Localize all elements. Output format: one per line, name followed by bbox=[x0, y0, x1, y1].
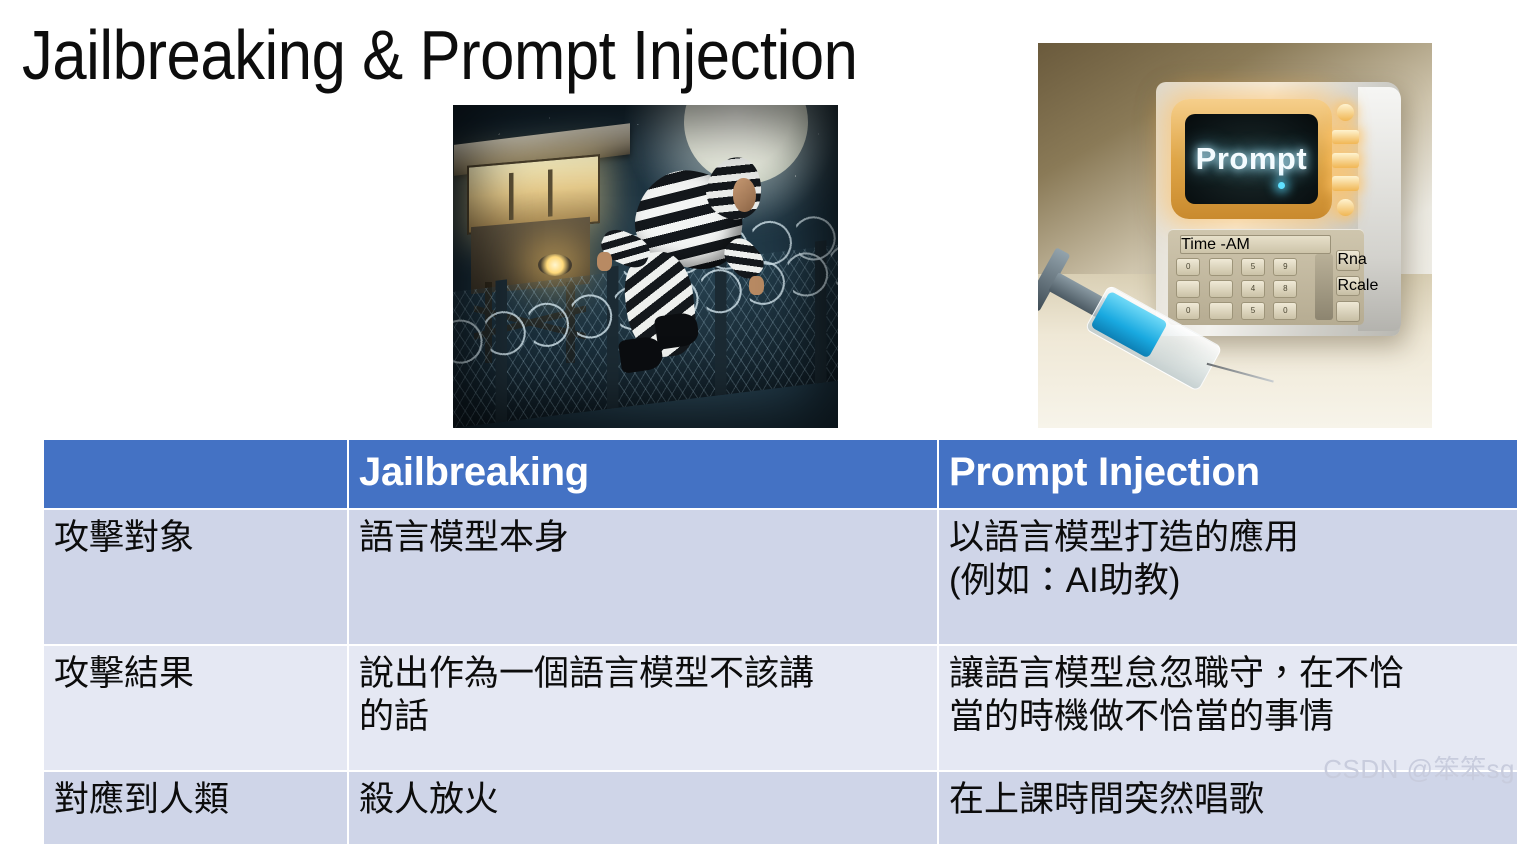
row-prompt-injection-cell: 在上課時間突然唱歌 bbox=[939, 772, 1517, 844]
row-label: 攻擊對象 bbox=[44, 510, 347, 644]
indicator-lamp-bottom bbox=[1337, 199, 1354, 216]
screen-text: Prompt bbox=[1196, 141, 1308, 177]
header-cell-blank bbox=[44, 440, 347, 508]
row-jailbreaking-cell: 說出作為一個語言模型不該講 的話 bbox=[349, 646, 937, 770]
comparison-table: Jailbreaking Prompt Injection 攻擊對象 語言模型本… bbox=[42, 438, 1519, 846]
indicator-lamp-1 bbox=[1332, 130, 1359, 145]
row-jailbreaking-cell: 語言模型本身 bbox=[349, 510, 937, 644]
indicator-lamp-2 bbox=[1332, 153, 1359, 168]
vignette-overlay bbox=[453, 105, 838, 428]
indicator-lamp-3 bbox=[1332, 176, 1359, 191]
indicator-lamp-top bbox=[1337, 104, 1354, 121]
keypad-key: 5 bbox=[1241, 302, 1265, 320]
side-button: Rna bbox=[1336, 250, 1359, 271]
syringe-blue-fluid bbox=[1090, 290, 1168, 358]
prompt-injection-illustration: Prompt Time -AM 0 5 9 4 8 0 5 bbox=[1038, 43, 1432, 428]
cell-line: 當的時機做不恰當的事情 bbox=[949, 695, 1507, 738]
injection-droplet bbox=[1278, 182, 1285, 189]
table-header-row: Jailbreaking Prompt Injection bbox=[44, 440, 1517, 508]
cell-line: 殺人放火 bbox=[359, 778, 927, 821]
syringe-barrel bbox=[1084, 284, 1222, 391]
syringe-needle bbox=[1206, 362, 1273, 382]
panel-readout: Time -AM bbox=[1180, 235, 1331, 254]
page-title: Jailbreaking & Prompt Injection bbox=[22, 12, 911, 98]
cell-line: 以語言模型打造的應用 bbox=[949, 516, 1507, 559]
table-row: 攻擊對象 語言模型本身 以語言模型打造的應用 (例如：AI助教) bbox=[44, 510, 1517, 644]
cell-line: 讓語言模型怠忽職守，在不恰 bbox=[949, 652, 1507, 695]
table-row: 對應到人類 殺人放火 在上課時間突然唱歌 bbox=[44, 772, 1517, 844]
keypad-key: 5 bbox=[1241, 258, 1265, 276]
header-cell-jailbreaking: Jailbreaking bbox=[349, 440, 937, 508]
side-button-group: Rna Rcale bbox=[1336, 250, 1359, 321]
side-button: Rcale bbox=[1336, 276, 1359, 297]
row-jailbreaking-cell: 殺人放火 bbox=[349, 772, 937, 844]
keypad-key bbox=[1209, 280, 1233, 298]
row-label: 對應到人類 bbox=[44, 772, 347, 844]
keypad-key: 9 bbox=[1273, 258, 1297, 276]
row-prompt-injection-cell: 讓語言模型怠忽職守，在不恰 當的時機做不恰當的事情 bbox=[939, 646, 1517, 770]
machine-screen: Prompt bbox=[1185, 114, 1317, 205]
keypad-key: 0 bbox=[1273, 302, 1297, 320]
cell-line: 在上課時間突然唱歌 bbox=[949, 778, 1507, 821]
keypad-key bbox=[1209, 258, 1233, 276]
panel-slider bbox=[1315, 254, 1333, 320]
keypad-key: 8 bbox=[1273, 280, 1297, 298]
cell-line: 說出作為一個語言模型不該講 bbox=[359, 652, 927, 695]
cell-line: (例如：AI助教) bbox=[949, 559, 1507, 602]
table-row: 攻擊結果 說出作為一個語言模型不該講 的話 讓語言模型怠忽職守，在不恰 當的時機… bbox=[44, 646, 1517, 770]
keypad-key: 4 bbox=[1241, 280, 1265, 298]
indicator-lamp-column bbox=[1332, 104, 1359, 216]
header-cell-prompt-injection: Prompt Injection bbox=[939, 440, 1517, 508]
side-button bbox=[1336, 301, 1359, 322]
jailbreak-illustration bbox=[453, 105, 838, 428]
keypad-key: 0 bbox=[1176, 258, 1200, 276]
row-prompt-injection-cell: 以語言模型打造的應用 (例如：AI助教) bbox=[939, 510, 1517, 644]
cell-line: 的話 bbox=[359, 695, 927, 738]
cell-line: 語言模型本身 bbox=[359, 516, 927, 559]
row-label: 攻擊結果 bbox=[44, 646, 347, 770]
glowing-screen-bezel: Prompt bbox=[1171, 99, 1332, 218]
